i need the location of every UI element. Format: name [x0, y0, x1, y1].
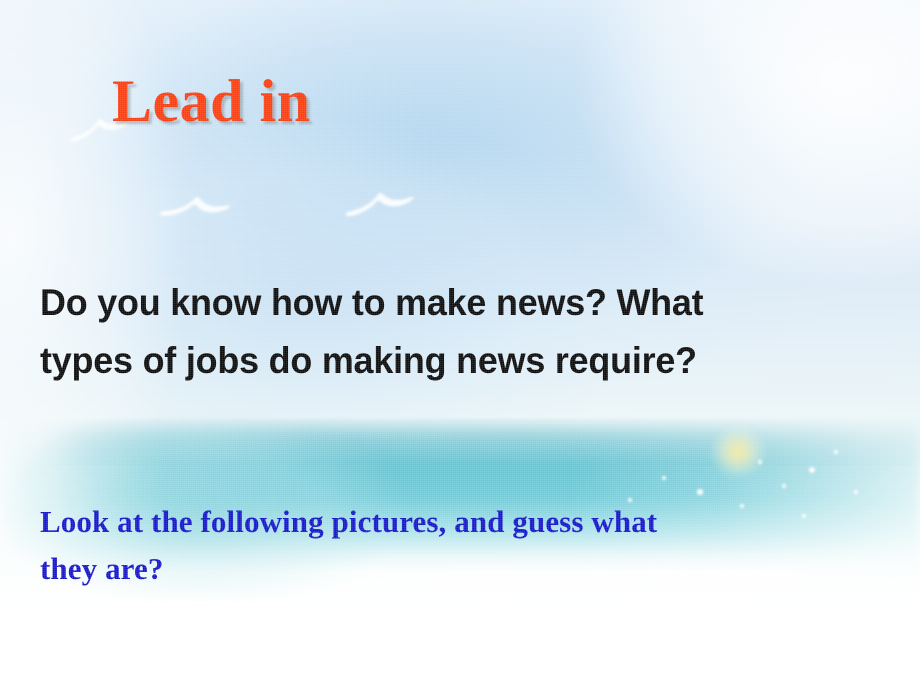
water-sparkle — [697, 489, 702, 494]
prompt-line-1: Look at the following pictures, and gues… — [40, 498, 900, 545]
water-sparkle — [834, 450, 838, 454]
question-line-2: types of jobs do making news require? — [40, 332, 855, 390]
seagull-middle-right-icon — [343, 184, 417, 221]
slide-canvas: Lead in Do you know how to make news? Wh… — [0, 0, 920, 690]
water-sparkle — [758, 460, 762, 464]
water-sparkle — [662, 476, 666, 480]
water-sparkle — [809, 467, 815, 473]
prompt-line-2: they are? — [40, 545, 900, 592]
seagull-middle-left-icon — [159, 188, 233, 225]
page-title: Lead in — [112, 71, 311, 131]
band-crest — [0, 418, 920, 466]
question-line-1: Do you know how to make news? What — [40, 274, 855, 332]
prompt-text-block: Look at the following pictures, and gues… — [40, 498, 900, 592]
question-text-block: Do you know how to make news? What types… — [40, 274, 880, 390]
water-sparkle — [854, 490, 858, 494]
sun-flare-icon — [690, 416, 800, 506]
water-sparkle — [782, 484, 787, 489]
